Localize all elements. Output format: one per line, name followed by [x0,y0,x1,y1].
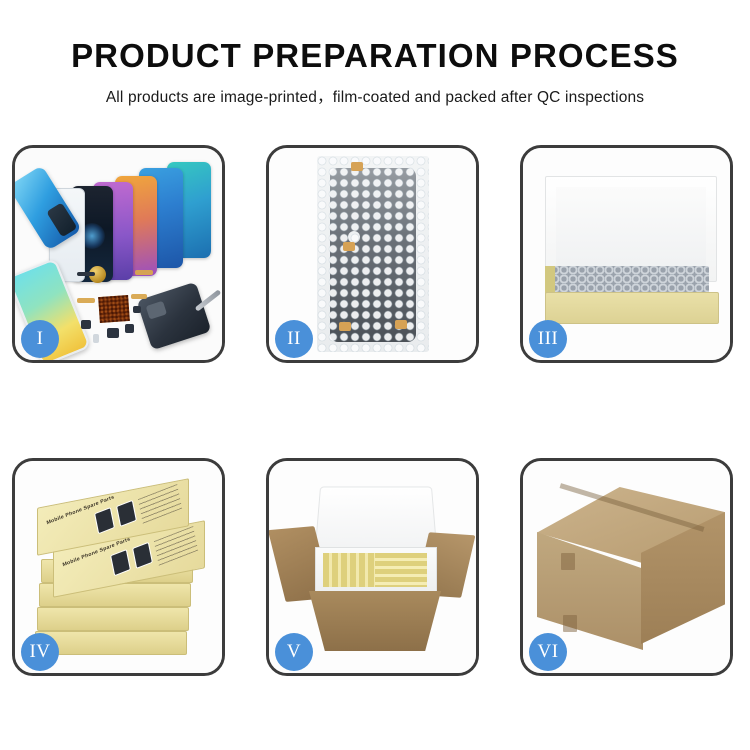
step-badge-1: I [21,320,59,358]
carton-tab [561,553,575,570]
box-thumbnail [132,542,153,569]
sealed-carton [537,487,725,651]
page-header: PRODUCT PREPARATION PROCESS All products… [0,0,750,107]
process-step-3[interactable]: III [520,145,733,363]
bubble-texture [317,156,429,352]
retail-box-stack: Mobile Phone Spare Parts Mobile Phone Sp… [29,479,219,665]
chip-part [133,306,141,313]
box-thumbnail [116,500,137,527]
tape-piece [395,320,407,329]
process-step-1[interactable]: I [12,145,225,363]
step-badge-5: V [275,633,313,671]
step-badge-4: IV [21,633,59,671]
step-badge-6: VI [529,633,567,671]
process-step-2[interactable]: II [266,145,479,363]
carton-front-panel [309,591,441,651]
process-step-6[interactable]: VI [520,458,733,676]
box-thumbnail [94,507,115,534]
page-title: PRODUCT PREPARATION PROCESS [0,38,750,74]
bubble-wrap-bag [317,156,429,352]
process-step-5[interactable]: V [266,458,479,676]
chip-part [77,272,95,276]
box-spec-lines [138,484,182,524]
chip-part [107,328,119,338]
tape-piece [343,242,355,251]
copper-grid-part [98,295,130,323]
box-spec-lines [154,526,198,566]
step-badge-3: III [529,320,567,358]
flex-cable-part [131,294,147,299]
process-step-grid: I II III [12,145,740,676]
box-front-panel [545,292,719,324]
flex-cable-part [135,270,153,275]
flex-cable-part [77,298,95,303]
page-subtitle: All products are image-printed，film-coat… [0,85,750,107]
step-badge-2: II [275,320,313,358]
chip-part [125,324,134,333]
tape-piece [339,322,351,331]
packed-boxes-stack [375,553,427,587]
box-thumbnail [110,549,131,576]
tape-piece [351,162,363,171]
chip-part [81,320,91,329]
process-step-4[interactable]: Mobile Phone Spare Parts Mobile Phone Sp… [12,458,225,676]
carton-tab [563,615,577,632]
small-part [93,334,99,343]
stacked-box [37,607,189,631]
